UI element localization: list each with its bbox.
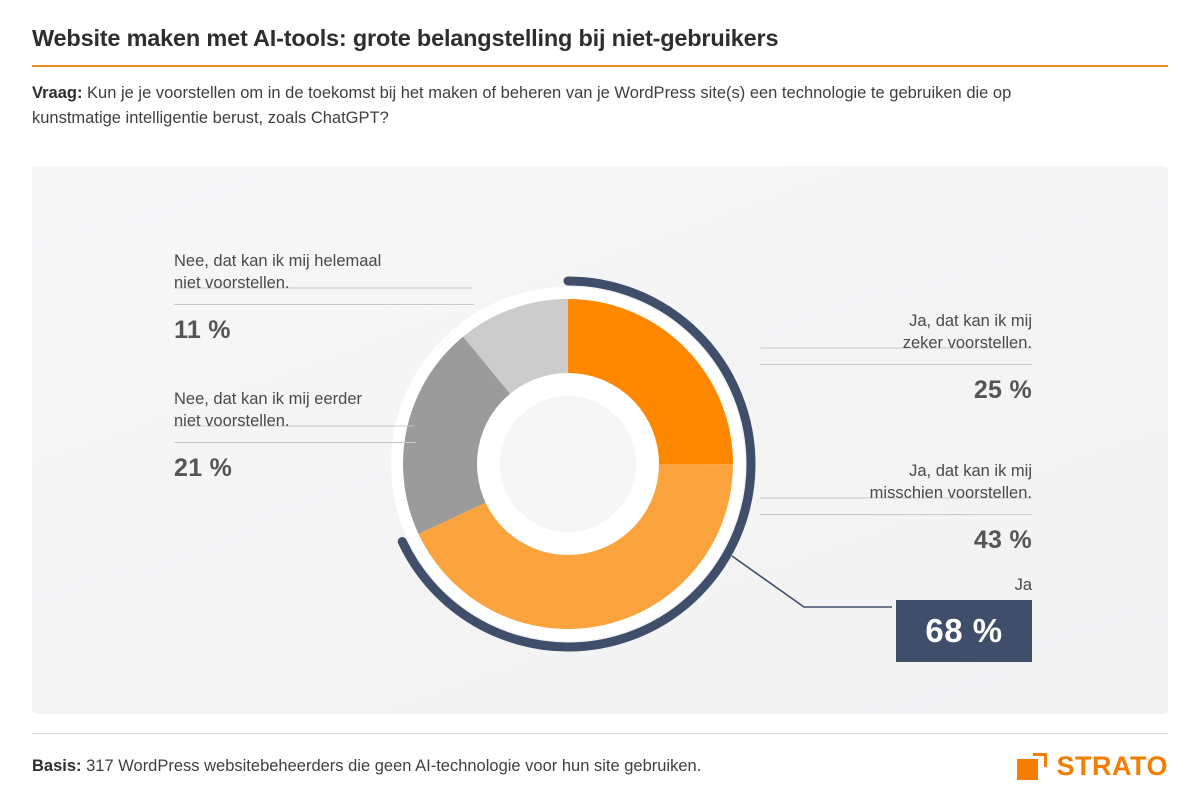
- question-text: Vraag: Kun je je voorstellen om in de to…: [32, 81, 1097, 131]
- strato-square-outline-icon: [1033, 753, 1047, 767]
- label-ja-zeker-text: Ja, dat kan ik mij zeker voorstellen.: [760, 310, 1032, 355]
- label-ja-misschien-text: Ja, dat kan ik mij misschien voorstellen…: [760, 460, 1032, 505]
- strato-wordmark: STRATO: [1056, 753, 1168, 780]
- label-ja-misschien: Ja, dat kan ik mij misschien voorstellen…: [760, 460, 1032, 557]
- label-nee-eerder-rule: [174, 442, 416, 443]
- label-ja-misschien-value: 43 %: [760, 524, 1032, 558]
- strato-mark-icon: [1017, 753, 1047, 780]
- label-ja-zeker: Ja, dat kan ik mij zeker voorstellen. 25…: [760, 310, 1032, 407]
- callout-connector: [732, 556, 892, 607]
- basis-note: Basis: 317 WordPress websitebeheerders d…: [32, 757, 701, 776]
- donut-center: [500, 396, 636, 532]
- header: Website maken met AI-tools: grote belang…: [32, 0, 1168, 131]
- label-nee-helemaal-value: 11 %: [174, 314, 474, 348]
- chart-panel: Nee, dat kan ik mij helemaal niet voorst…: [32, 166, 1168, 714]
- footer-divider: [32, 733, 1168, 734]
- label-nee-eerder-value: 21 %: [174, 452, 416, 486]
- total-ja-callout: Ja 68 %: [896, 577, 1032, 662]
- label-nee-eerder-text: Nee, dat kan ik mij eerder niet voorstel…: [174, 388, 416, 433]
- question-body: Kun je je voorstellen om in de toekomst …: [32, 84, 1011, 127]
- question-label: Vraag:: [32, 84, 82, 102]
- infographic-page: Website maken met AI-tools: grote belang…: [0, 0, 1200, 809]
- title-divider: [32, 65, 1168, 67]
- label-nee-helemaal-rule: [174, 304, 474, 305]
- basis-text: 317 WordPress websitebeheerders die geen…: [86, 757, 701, 775]
- page-title: Website maken met AI-tools: grote belang…: [32, 24, 1168, 52]
- callout-value: 68 %: [896, 600, 1032, 662]
- callout-caption: Ja: [896, 577, 1032, 594]
- donut-chart-area: Nee, dat kan ik mij helemaal niet voorst…: [32, 166, 1168, 714]
- strato-logo: STRATO: [1017, 753, 1168, 780]
- label-nee-eerder: Nee, dat kan ik mij eerder niet voorstel…: [174, 388, 416, 485]
- label-nee-helemaal: Nee, dat kan ik mij helemaal niet voorst…: [174, 250, 474, 347]
- label-ja-zeker-value: 25 %: [760, 374, 1032, 408]
- label-nee-helemaal-text: Nee, dat kan ik mij helemaal niet voorst…: [174, 250, 474, 295]
- label-ja-zeker-rule: [760, 364, 1032, 365]
- basis-label: Basis:: [32, 757, 82, 775]
- label-ja-misschien-rule: [760, 514, 1032, 515]
